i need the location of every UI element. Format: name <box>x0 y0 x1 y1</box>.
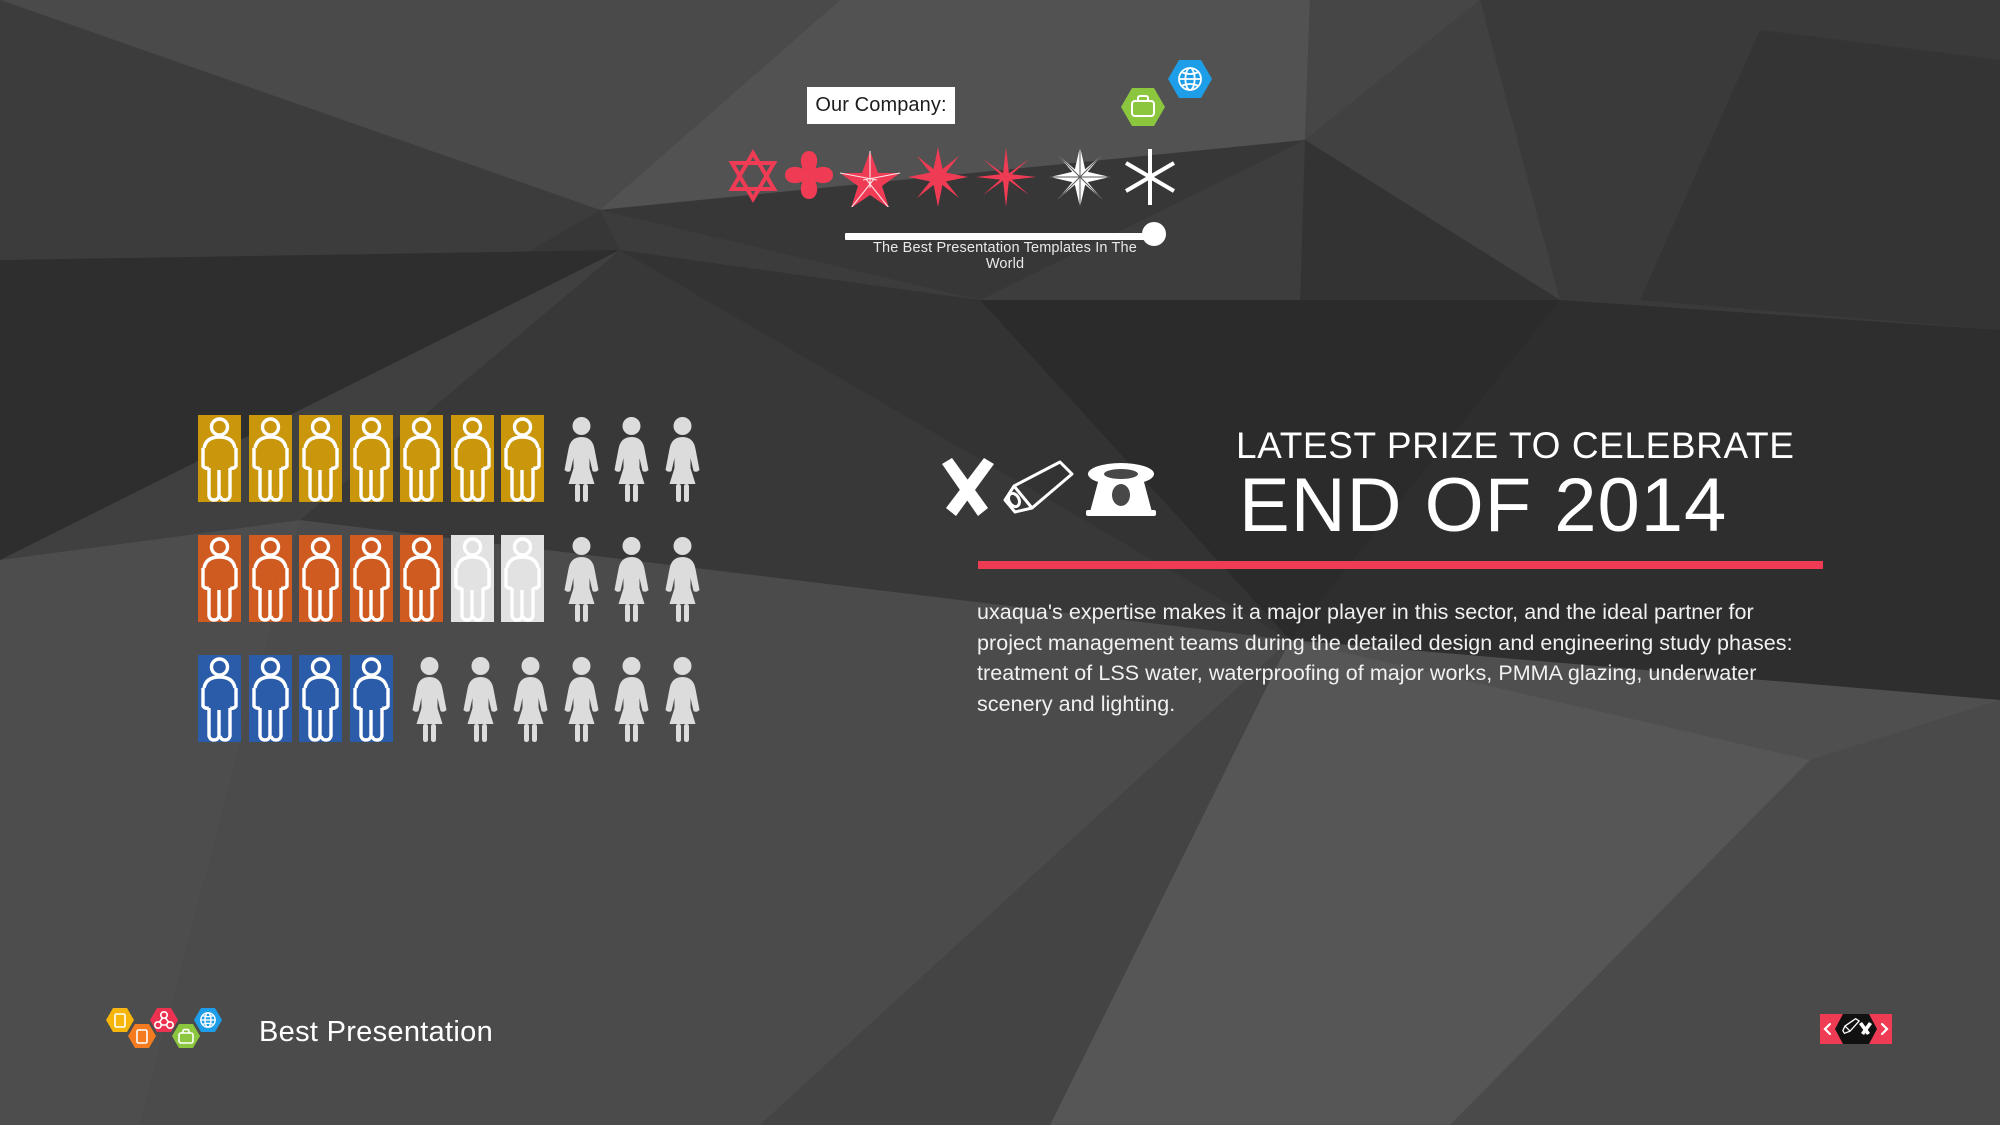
pictogram-unit-empty <box>610 415 653 502</box>
slider-caption: The Best Presentation Templates In The W… <box>855 240 1155 272</box>
x-mark-icon <box>942 458 994 516</box>
pictogram-unit-filled <box>249 655 292 742</box>
document-hex-yellow <box>106 1008 134 1032</box>
pictogram-unit-filled <box>451 415 494 502</box>
pictogram-unit-filled <box>249 535 292 622</box>
content-kicker: LATEST PRIZE TO CELEBRATE <box>1236 425 1795 467</box>
pictogram-unit-filled <box>350 415 393 502</box>
globe-hex-blue <box>194 1008 222 1032</box>
pictogram-unit-filled <box>501 415 544 502</box>
pictogram-unit-filled <box>299 655 342 742</box>
pictogram-unit-empty <box>560 415 603 502</box>
pictogram-unit-empty <box>610 535 653 622</box>
slide-pager[interactable] <box>1820 1014 1892 1044</box>
star-of-david-icon <box>732 153 774 199</box>
eight-point-star-icon <box>908 147 968 207</box>
pictogram-unit-filled <box>400 535 443 622</box>
pictogram-unit-empty <box>509 655 552 742</box>
our-company-badge: Our Company: <box>807 87 955 124</box>
pictogram-unit-empty <box>459 655 502 742</box>
pictogram-unit-filled <box>198 655 241 742</box>
pictogram-unit-filled <box>299 535 342 622</box>
brand-name-label: Best Presentation <box>259 1016 493 1049</box>
pictogram-unit-filled <box>350 655 393 742</box>
pictogram-unit-empty <box>661 535 704 622</box>
asterisk-star-icon <box>1126 149 1174 205</box>
briefcase-hex <box>1121 88 1165 126</box>
ten-point-star-icon <box>976 147 1036 207</box>
pictogram-unit-filled <box>198 535 241 622</box>
pictogram-unit-filled <box>249 415 292 502</box>
network-hex-red <box>150 1008 178 1032</box>
content-headline: END OF 2014 <box>1239 468 1727 544</box>
headline-rule <box>978 561 1823 569</box>
document-hex-orange <box>128 1024 156 1048</box>
pictogram-unit-empty <box>661 655 704 742</box>
pictogram-unit-empty <box>610 655 653 742</box>
globe-hex <box>1168 60 1212 98</box>
pictogram-unit-empty <box>560 655 603 742</box>
eight-point-compass-star-icon <box>1050 147 1110 207</box>
header-hex-icons <box>1105 60 1220 145</box>
our-company-label: Our Company: <box>815 94 946 117</box>
pictogram-unit-empty <box>560 535 603 622</box>
slider-track[interactable] <box>845 233 1157 240</box>
pictogram-unit-muted <box>501 535 544 622</box>
content-deco-icons <box>938 452 1178 522</box>
pictogram-unit-empty <box>661 415 704 502</box>
briefcase-hex-green <box>172 1024 200 1048</box>
pictogram-unit-muted <box>451 535 494 622</box>
pictogram-unit-filled <box>350 535 393 622</box>
telephone-icon <box>1086 463 1156 516</box>
clover-cross-icon <box>785 151 833 199</box>
pencil-icon <box>1005 462 1072 512</box>
pictogram-unit-empty <box>408 655 451 742</box>
star-icon-strip <box>720 145 1240 207</box>
pictogram-unit-filled <box>299 415 342 502</box>
content-paragraph: uxaqua's expertise makes it a major play… <box>977 597 1817 719</box>
pictogram-unit-filled <box>400 415 443 502</box>
pictogram-unit-filled <box>198 415 241 502</box>
five-point-star-icon <box>840 151 900 207</box>
brand-hex-cluster <box>100 1004 250 1069</box>
presentation-slide: Our Company: <box>0 0 2000 1125</box>
